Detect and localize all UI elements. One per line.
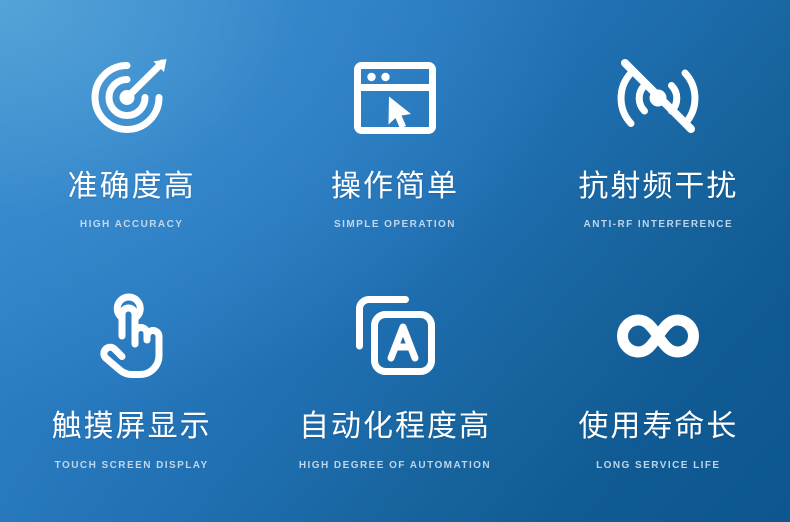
feature-subtitle: TOUCH SCREEN DISPLAY [55, 461, 209, 471]
feature-subtitle: LONG SERVICE LIFE [596, 461, 720, 471]
feature-card-touch-screen-display: 触摸屏显示 TOUCH SCREEN DISPLAY [0, 256, 263, 522]
feature-card-long-service-life: 使用寿命长 LONG SERVICE LIFE [527, 256, 790, 522]
feature-card-high-degree-of-automation: 自动化程度高 HIGH DEGREE OF AUTOMATION [263, 256, 526, 522]
feature-title: 自动化程度高 [299, 412, 491, 442]
feature-title: 操作简单 [331, 172, 459, 202]
feature-title: 抗射频干扰 [578, 172, 738, 202]
feature-title: 准确度高 [68, 172, 196, 202]
feature-title: 使用寿命长 [578, 412, 738, 442]
feature-subtitle: ANTI-RF INTERFERENCE [584, 220, 734, 230]
feature-card-anti-rf-interference: 抗射频干扰 ANTI-RF INTERFERENCE [527, 0, 790, 256]
signal-off-icon [603, 46, 713, 150]
browser-window-cursor-icon [340, 46, 450, 150]
feature-title: 触摸屏显示 [52, 412, 212, 442]
touch-hand-icon [77, 284, 187, 388]
stacked-cards-letter-a-icon [340, 284, 450, 388]
feature-card-high-accuracy: 准确度高 HIGH ACCURACY [0, 0, 263, 256]
target-arrow-icon [77, 46, 187, 150]
features-grid: 准确度高 HIGH ACCURACY 操作简单 SIMPLE OPERATION [0, 0, 790, 522]
feature-card-simple-operation: 操作简单 SIMPLE OPERATION [263, 0, 526, 256]
feature-subtitle: HIGH DEGREE OF AUTOMATION [299, 461, 491, 471]
feature-subtitle: SIMPLE OPERATION [334, 220, 456, 230]
infinity-icon [603, 284, 713, 388]
feature-subtitle: HIGH ACCURACY [80, 220, 183, 230]
